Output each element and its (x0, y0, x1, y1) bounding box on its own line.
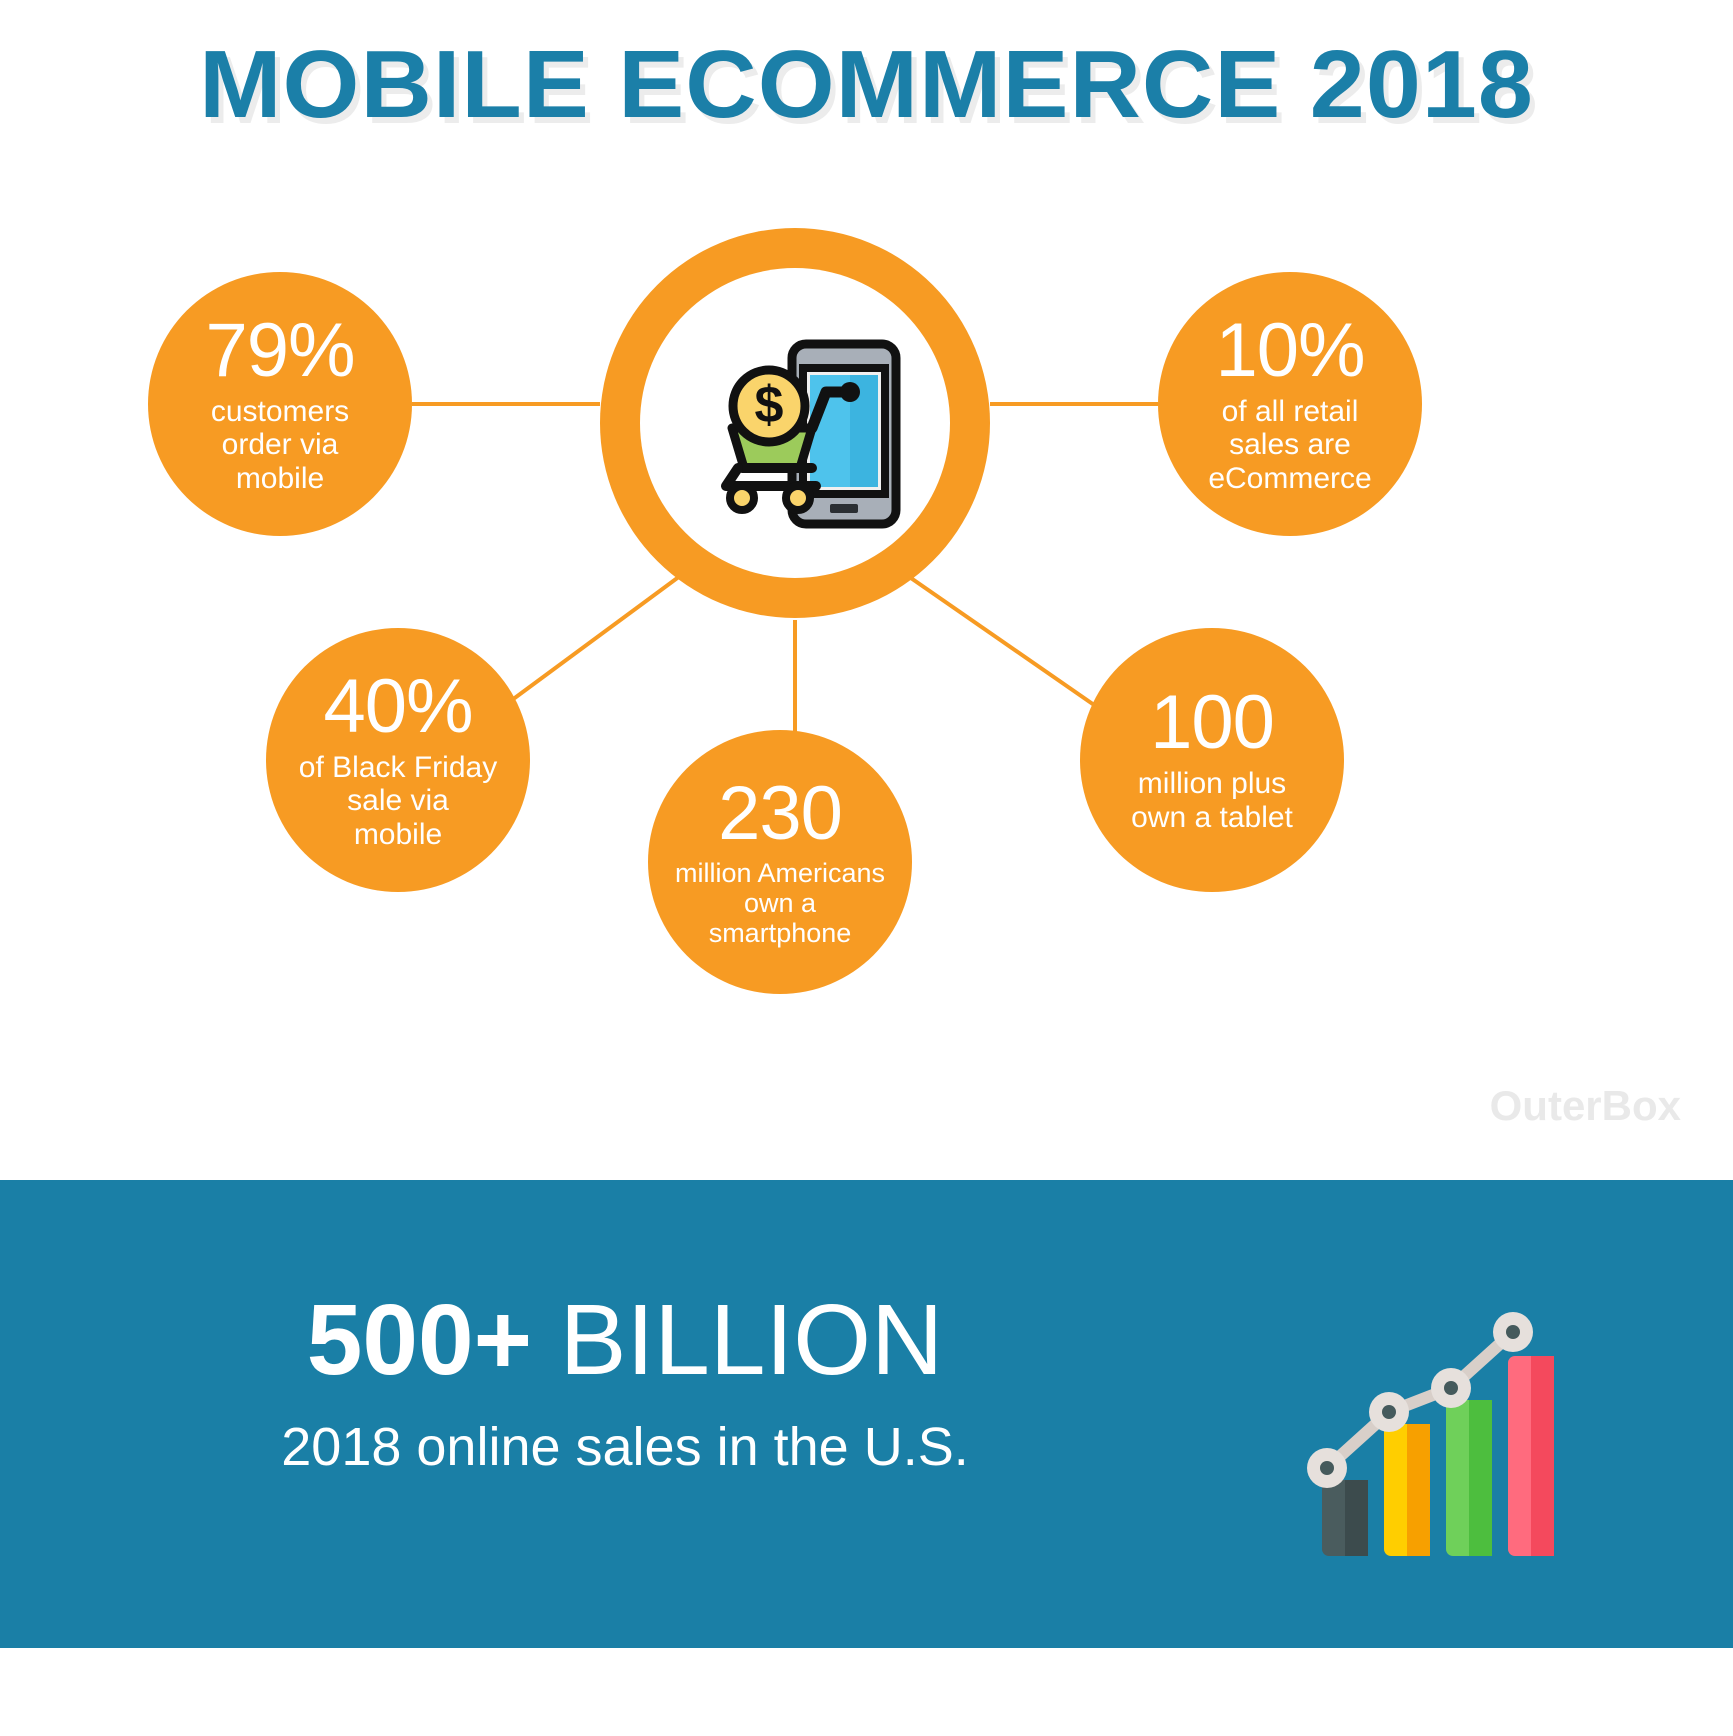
stat-caption-line: sales are (1208, 428, 1371, 462)
chart-trend-marker-center (1382, 1405, 1396, 1419)
stat-caption-line: of all retail (1208, 395, 1371, 429)
stat-caption-line: order via (211, 428, 349, 462)
chart-bar (1508, 1356, 1554, 1556)
stat-caption-line: own a tablet (1131, 801, 1293, 835)
growth-bar-chart-icon (1300, 1278, 1570, 1568)
stat-caption-line: million Americans (675, 858, 885, 888)
stat-node-40[interactable]: 40% of Black Friday sale via mobile (266, 628, 530, 892)
center-hub-ring: $ (600, 228, 990, 618)
chart-bar (1322, 1480, 1368, 1556)
stat-node-230[interactable]: 230 million Americans own a smartphone (648, 730, 912, 994)
summary-headline-bold: 500+ (307, 1284, 532, 1396)
stat-value: 100 (1150, 685, 1274, 761)
stat-caption-line: of Black Friday (299, 751, 497, 785)
hub-and-spoke-diagram: 79% customers order via mobile 10% of al… (0, 0, 1733, 1180)
outerbox-watermark: OuterBox (1490, 1082, 1681, 1130)
center-hub-inner: $ (640, 268, 950, 578)
stat-value: 230 (718, 776, 842, 852)
stat-node-10[interactable]: 10% of all retail sales are eCommerce (1158, 272, 1422, 536)
summary-subtitle: 2018 online sales in the U.S. (0, 1416, 1250, 1478)
stat-caption: of all retail sales are eCommerce (1208, 395, 1371, 496)
stat-caption-line: eCommerce (1208, 462, 1371, 496)
stat-caption-line: million plus (1131, 767, 1293, 801)
stat-value: 40% (323, 669, 472, 745)
stat-caption: million Americans own a smartphone (675, 858, 885, 949)
summary-headline: 500+ BILLION (0, 1290, 1250, 1390)
mobile-shopping-cart-icon: $ (680, 308, 910, 538)
stat-caption: customers order via mobile (211, 395, 349, 496)
chart-trend-marker-center (1320, 1461, 1334, 1475)
chart-trend-marker-center (1506, 1325, 1520, 1339)
stat-caption-line: sale via (299, 784, 497, 818)
infographic-canvas: MOBILE ECOMMERCE 2018 79% customers orde… (0, 0, 1733, 1736)
connector-line-40 (512, 576, 680, 700)
chart-trend-marker-center (1444, 1381, 1458, 1395)
stat-node-79[interactable]: 79% customers order via mobile (148, 272, 412, 536)
chart-bar (1446, 1400, 1492, 1556)
stat-caption-line: smartphone (675, 918, 885, 948)
chart-bar (1384, 1424, 1430, 1556)
stat-caption-line: mobile (299, 818, 497, 852)
connector-line-100 (908, 576, 1110, 716)
stat-caption-line: mobile (211, 462, 349, 496)
stat-caption-line: customers (211, 395, 349, 429)
svg-text:$: $ (755, 376, 784, 434)
summary-band-text: 500+ BILLION 2018 online sales in the U.… (0, 1290, 1250, 1478)
stat-caption: of Black Friday sale via mobile (299, 751, 497, 852)
stat-caption: million plus own a tablet (1131, 767, 1293, 834)
stat-value: 10% (1215, 313, 1364, 389)
summary-headline-light: BILLION (560, 1284, 944, 1396)
stat-caption-line: own a (675, 888, 885, 918)
stat-node-100[interactable]: 100 million plus own a tablet (1080, 628, 1344, 892)
stat-value: 79% (205, 313, 354, 389)
